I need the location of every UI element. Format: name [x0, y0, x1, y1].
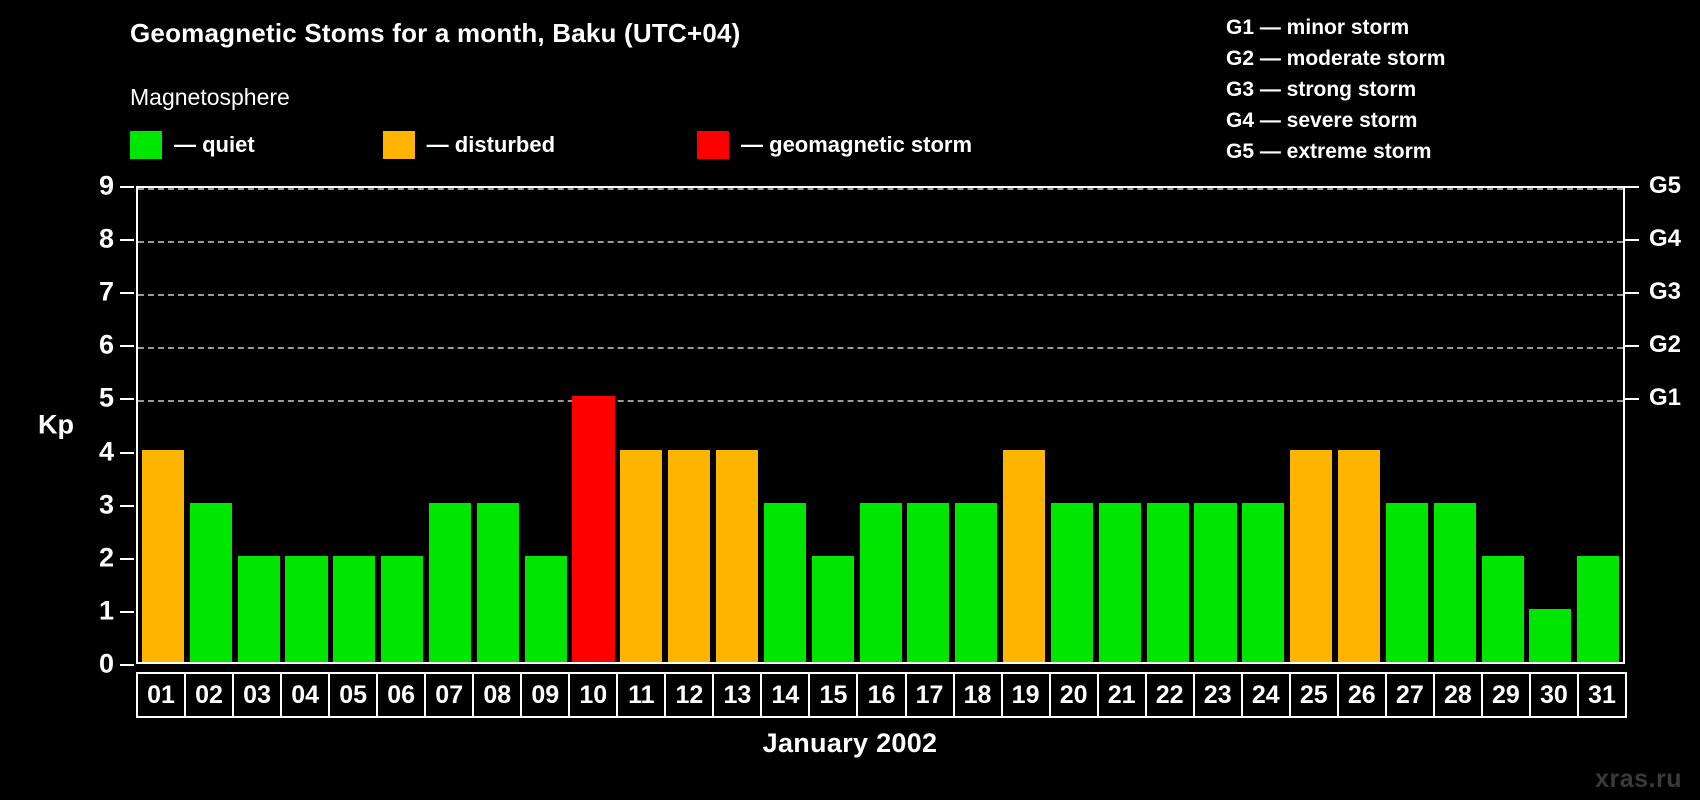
bar-day-29[interactable] [1482, 556, 1524, 662]
day-label-07[interactable]: 07 [424, 672, 474, 718]
g-tick-mark-G5 [1625, 186, 1639, 188]
g-tick-label-G4: G4 [1649, 225, 1681, 253]
bar-slot-13[interactable] [713, 188, 761, 662]
legend-item-storm: — geomagnetic storm [697, 130, 972, 160]
day-label-10[interactable]: 10 [568, 672, 618, 718]
bar-slot-31[interactable] [1574, 188, 1622, 662]
bar-day-08[interactable] [477, 503, 519, 662]
bar-day-01[interactable] [142, 450, 184, 662]
page-title: Geomagnetic Stoms for a month, Baku (UTC… [130, 18, 741, 49]
day-label-20[interactable]: 20 [1049, 672, 1099, 718]
y-tick-label-1: 1 [99, 595, 114, 626]
day-label-01[interactable]: 01 [136, 672, 186, 718]
g-tick-mark-G2 [1625, 345, 1639, 347]
bar-slot-28[interactable] [1431, 188, 1479, 662]
g-tick-mark-G3 [1625, 292, 1639, 294]
bar-slot-11[interactable] [617, 188, 665, 662]
legend-item-quiet: — quiet [130, 130, 255, 160]
bar-day-28[interactable] [1434, 503, 1476, 662]
legend-heading: Magnetosphere [130, 84, 290, 111]
y-tick-mark-6 [120, 345, 134, 347]
bar-slot-10[interactable] [570, 188, 618, 662]
y-tick-label-6: 6 [99, 330, 114, 361]
bar-day-20[interactable] [1051, 503, 1093, 662]
day-label-29[interactable]: 29 [1481, 672, 1531, 718]
bar-day-05[interactable] [333, 556, 375, 662]
day-label-27[interactable]: 27 [1385, 672, 1435, 718]
legend-label-quiet: — quiet [174, 132, 255, 158]
bar-slot-02[interactable] [187, 188, 235, 662]
g-tick-label-G3: G3 [1649, 278, 1681, 306]
bar-slot-16[interactable] [857, 188, 905, 662]
bar-day-12[interactable] [668, 450, 710, 662]
bar-day-02[interactable] [190, 503, 232, 662]
bar-slot-12[interactable] [665, 188, 713, 662]
bar-slot-25[interactable] [1287, 188, 1335, 662]
g-scale-axis: G1G2G3G4G5 [1625, 186, 1700, 664]
y-tick-mark-2 [120, 558, 134, 560]
x-axis-title: January 2002 [0, 728, 1700, 759]
day-label-13[interactable]: 13 [712, 672, 762, 718]
legend: — quiet— disturbed— geomagnetic storm [130, 130, 972, 160]
day-label-03[interactable]: 03 [232, 672, 282, 718]
day-label-14[interactable]: 14 [760, 672, 810, 718]
day-label-05[interactable]: 05 [328, 672, 378, 718]
bar-day-03[interactable] [238, 556, 280, 662]
day-label-31[interactable]: 31 [1577, 672, 1627, 718]
y-tick-mark-5 [120, 398, 134, 400]
bar-day-26[interactable] [1338, 450, 1380, 662]
bar-slot-29[interactable] [1479, 188, 1527, 662]
day-label-24[interactable]: 24 [1241, 672, 1291, 718]
bar-day-24[interactable] [1242, 503, 1284, 662]
g-tick-mark-G4 [1625, 239, 1639, 241]
bar-day-04[interactable] [285, 556, 327, 662]
plot-area [136, 186, 1625, 664]
bar-day-19[interactable] [1003, 450, 1045, 662]
g-tick-label-G2: G2 [1649, 331, 1681, 359]
y-tick-mark-4 [120, 452, 134, 454]
chart-header: Geomagnetic Stoms for a month, Baku (UTC… [0, 0, 1700, 172]
g-scale-key: G1 — minor stormG2 — moderate stormG3 — … [1226, 12, 1445, 167]
bar-day-11[interactable] [620, 450, 662, 662]
y-tick-mark-7 [120, 292, 134, 294]
legend-swatch-storm [697, 131, 729, 159]
bar-slot-03[interactable] [235, 188, 283, 662]
bar-day-07[interactable] [429, 503, 471, 662]
day-label-04[interactable]: 04 [280, 672, 330, 718]
legend-label-disturbed: — disturbed [427, 132, 555, 158]
bar-slot-22[interactable] [1144, 188, 1192, 662]
g-tick-label-G1: G1 [1649, 384, 1681, 412]
bar-slot-23[interactable] [1192, 188, 1240, 662]
bar-slot-01[interactable] [139, 188, 187, 662]
g-key-line-3: G3 — strong storm [1226, 74, 1445, 105]
day-label-08[interactable]: 08 [472, 672, 522, 718]
day-label-02[interactable]: 02 [184, 672, 234, 718]
legend-item-disturbed: — disturbed [383, 130, 555, 160]
bar-day-25[interactable] [1290, 450, 1332, 662]
g-key-line-2: G2 — moderate storm [1226, 43, 1445, 74]
y-tick-label-7: 7 [99, 277, 114, 308]
bar-day-14[interactable] [764, 503, 806, 662]
bar-slot-26[interactable] [1335, 188, 1383, 662]
y-tick-mark-0 [120, 664, 134, 666]
bar-day-15[interactable] [812, 556, 854, 662]
day-label-12[interactable]: 12 [664, 672, 714, 718]
legend-swatch-disturbed [383, 131, 415, 159]
legend-swatch-quiet [130, 131, 162, 159]
y-tick-label-8: 8 [99, 224, 114, 255]
bar-slot-14[interactable] [761, 188, 809, 662]
y-tick-mark-3 [120, 505, 134, 507]
bar-day-21[interactable] [1099, 503, 1141, 662]
g-tick-label-G5: G5 [1649, 172, 1681, 200]
y-tick-label-0: 0 [99, 649, 114, 680]
bar-slot-30[interactable] [1526, 188, 1574, 662]
bar-slot-21[interactable] [1096, 188, 1144, 662]
day-label-09[interactable]: 09 [520, 672, 570, 718]
y-tick-label-2: 2 [99, 542, 114, 573]
day-label-26[interactable]: 26 [1337, 672, 1387, 718]
bar-day-09[interactable] [525, 556, 567, 662]
bar-slot-20[interactable] [1048, 188, 1096, 662]
day-label-17[interactable]: 17 [905, 672, 955, 718]
day-label-18[interactable]: 18 [953, 672, 1003, 718]
bar-slot-05[interactable] [330, 188, 378, 662]
g-key-line-1: G1 — minor storm [1226, 12, 1445, 43]
bar-day-30[interactable] [1529, 609, 1571, 662]
g-key-line-4: G4 — severe storm [1226, 105, 1445, 136]
y-axis-title: Kp [38, 410, 74, 441]
bar-slot-04[interactable] [283, 188, 331, 662]
bar-slot-07[interactable] [426, 188, 474, 662]
bar-day-22[interactable] [1147, 503, 1189, 662]
bar-day-06[interactable] [381, 556, 423, 662]
bar-day-18[interactable] [955, 503, 997, 662]
day-label-25[interactable]: 25 [1289, 672, 1339, 718]
bar-slot-19[interactable] [1000, 188, 1048, 662]
day-label-16[interactable]: 16 [856, 672, 906, 718]
bar-slot-18[interactable] [952, 188, 1000, 662]
bar-slot-27[interactable] [1383, 188, 1431, 662]
bar-series [138, 188, 1623, 662]
day-label-15[interactable]: 15 [808, 672, 858, 718]
bar-slot-08[interactable] [474, 188, 522, 662]
bar-day-23[interactable] [1194, 503, 1236, 662]
bar-day-16[interactable] [860, 503, 902, 662]
bar-day-31[interactable] [1577, 556, 1619, 662]
bar-day-17[interactable] [907, 503, 949, 662]
day-label-19[interactable]: 19 [1001, 672, 1051, 718]
day-label-11[interactable]: 11 [616, 672, 666, 718]
g-tick-mark-G1 [1625, 398, 1639, 400]
y-tick-label-9: 9 [99, 171, 114, 202]
bar-slot-06[interactable] [378, 188, 426, 662]
day-label-21[interactable]: 21 [1097, 672, 1147, 718]
day-label-strip: 0102030405060708091011121314151617181920… [136, 672, 1625, 718]
legend-label-storm: — geomagnetic storm [741, 132, 972, 158]
y-axis: Kp 0123456789 [0, 186, 136, 664]
bar-slot-17[interactable] [905, 188, 953, 662]
watermark: xras.ru [1595, 765, 1682, 794]
day-label-06[interactable]: 06 [376, 672, 426, 718]
y-tick-mark-9 [120, 186, 134, 188]
bar-slot-09[interactable] [522, 188, 570, 662]
day-label-23[interactable]: 23 [1193, 672, 1243, 718]
y-tick-label-3: 3 [99, 489, 114, 520]
y-tick-mark-8 [120, 239, 134, 241]
bar-day-10[interactable] [572, 396, 614, 662]
day-label-22[interactable]: 22 [1145, 672, 1195, 718]
day-label-30[interactable]: 30 [1529, 672, 1579, 718]
g-key-line-5: G5 — extreme storm [1226, 136, 1445, 167]
bar-day-13[interactable] [716, 450, 758, 662]
bar-day-27[interactable] [1386, 503, 1428, 662]
y-tick-label-5: 5 [99, 383, 114, 414]
bar-slot-24[interactable] [1239, 188, 1287, 662]
day-label-28[interactable]: 28 [1433, 672, 1483, 718]
y-tick-label-4: 4 [99, 436, 114, 467]
y-tick-mark-1 [120, 611, 134, 613]
bar-slot-15[interactable] [809, 188, 857, 662]
plot-wrapper: Kp 0123456789 G1G2G3G4G5 [0, 178, 1700, 668]
